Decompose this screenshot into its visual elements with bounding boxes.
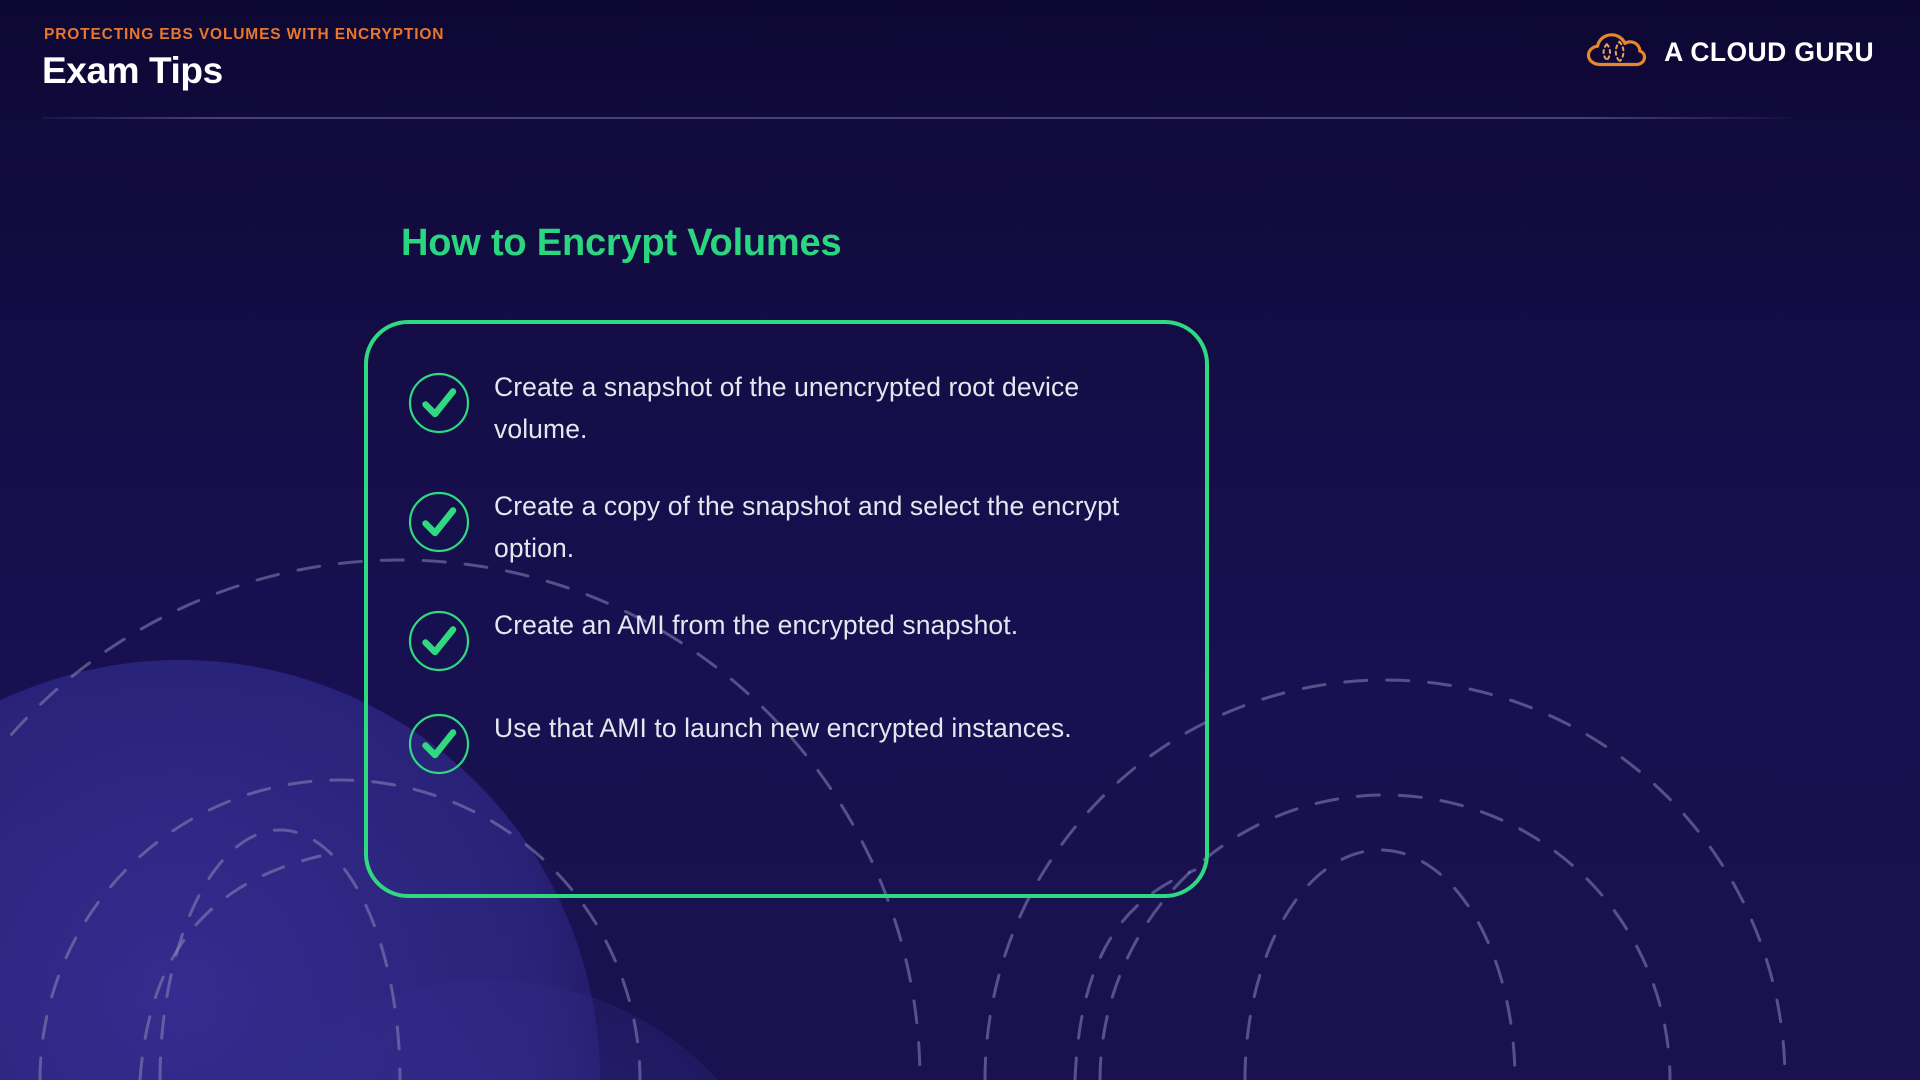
list-item-label: Use that AMI to launch new encrypted ins… <box>494 707 1072 749</box>
cloud-icon <box>1584 30 1648 75</box>
slide-header: PROTECTING EBS VOLUMES WITH ENCRYPTION E… <box>0 0 1920 120</box>
check-circle-icon <box>408 491 470 553</box>
check-circle-icon <box>408 372 470 434</box>
page-title: Exam Tips <box>42 50 223 92</box>
slide-canvas: PROTECTING EBS VOLUMES WITH ENCRYPTION E… <box>0 0 1920 1080</box>
list-item: Use that AMI to launch new encrypted ins… <box>408 707 1177 775</box>
list-item-label: Create an AMI from the encrypted snapsho… <box>494 604 1018 646</box>
list-item: Create a copy of the snapshot and select… <box>408 485 1177 569</box>
check-circle-icon <box>408 713 470 775</box>
check-circle-icon <box>408 610 470 672</box>
brand-name: A CLOUD GURU <box>1664 37 1874 68</box>
header-divider <box>42 117 1790 119</box>
header-kicker: PROTECTING EBS VOLUMES WITH ENCRYPTION <box>44 26 444 44</box>
background-glow-circle-secondary <box>180 980 800 1080</box>
list-item: Create a snapshot of the unencrypted roo… <box>408 366 1177 450</box>
brand-logo: A CLOUD GURU <box>1584 30 1874 75</box>
checklist-card: Create a snapshot of the unencrypted roo… <box>364 320 1209 898</box>
checklist: Create a snapshot of the unencrypted roo… <box>408 366 1177 775</box>
section-heading: How to Encrypt Volumes <box>401 222 841 265</box>
list-item-label: Create a copy of the snapshot and select… <box>494 485 1154 569</box>
list-item-label: Create a snapshot of the unencrypted roo… <box>494 366 1154 450</box>
list-item: Create an AMI from the encrypted snapsho… <box>408 604 1177 672</box>
